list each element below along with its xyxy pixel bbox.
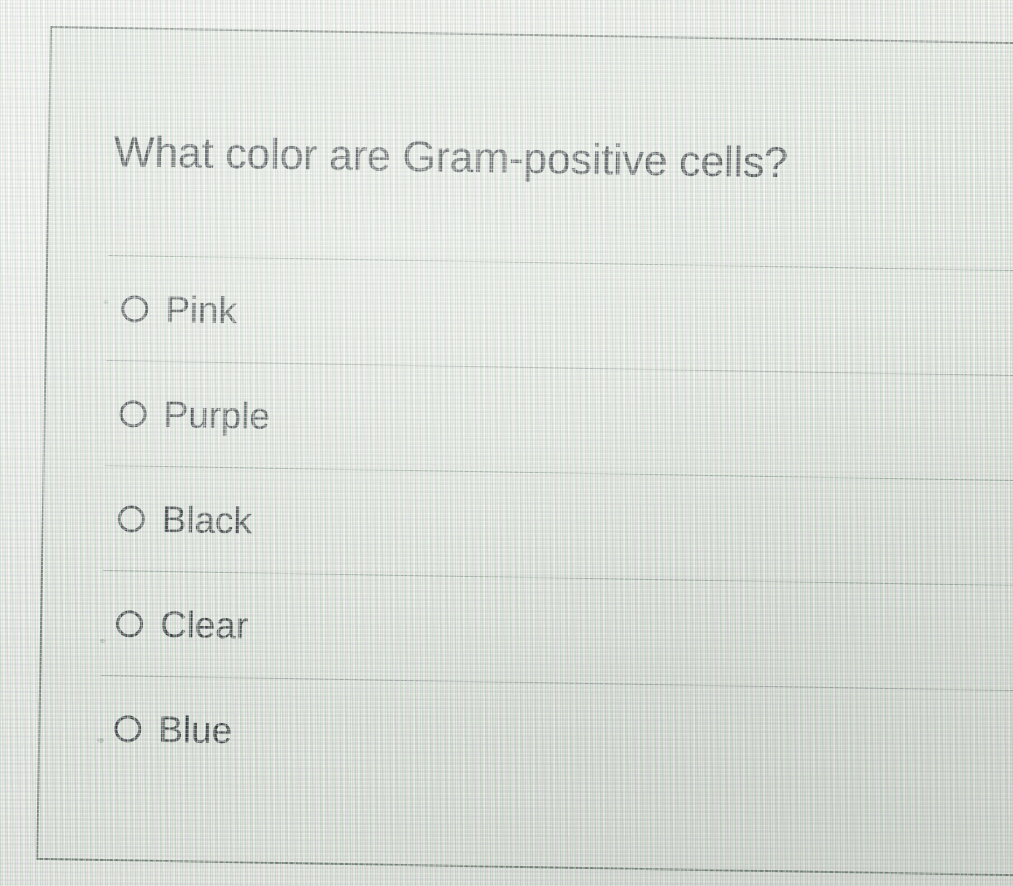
option-label-clear: Clear: [160, 605, 249, 643]
option-row-blue[interactable]: Blue: [100, 675, 1013, 796]
answer-options-list: Pink Purple Black Clear Blue: [100, 255, 1013, 796]
option-row-black[interactable]: Black: [103, 465, 1013, 586]
question-text: What color are Gram-positive cells?: [113, 127, 788, 189]
option-label-pink: Pink: [165, 290, 237, 328]
option-row-purple[interactable]: Purple: [105, 360, 1013, 481]
option-row-pink[interactable]: Pink: [106, 255, 1013, 376]
option-label-purple: Purple: [163, 395, 270, 434]
option-label-blue: Blue: [158, 710, 232, 748]
radio-button-pink[interactable]: [121, 295, 148, 322]
radio-button-purple[interactable]: [119, 400, 146, 427]
radio-button-black[interactable]: [118, 505, 145, 532]
option-label-black: Black: [162, 500, 253, 538]
option-row-clear[interactable]: Clear: [101, 570, 1013, 691]
dust-speck-icon: [97, 738, 104, 743]
radio-button-clear[interactable]: [116, 610, 143, 637]
question-card-content: What color are Gram-positive cells? Pink…: [36, 26, 1013, 873]
photographed-screen: What color are Gram-positive cells? Pink…: [0, 0, 1013, 886]
dust-speck-icon: [100, 639, 106, 643]
radio-button-blue[interactable]: [114, 715, 141, 742]
dust-speck-icon: [103, 300, 108, 304]
